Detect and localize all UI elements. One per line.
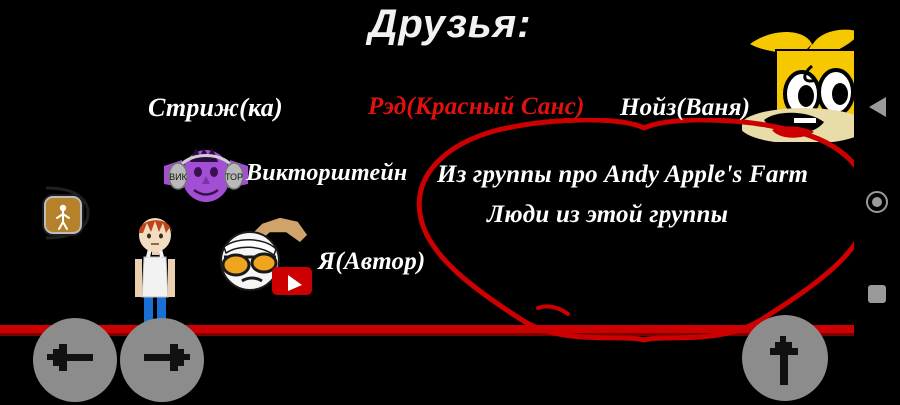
right-dpad-button[interactable] bbox=[120, 318, 204, 402]
back-icon[interactable] bbox=[866, 95, 888, 119]
headphone-right-text: ТОР bbox=[225, 172, 243, 182]
recents-icon[interactable] bbox=[868, 285, 886, 303]
home-icon[interactable] bbox=[865, 190, 889, 214]
strizhka-character bbox=[216, 207, 316, 302]
character-menu-button[interactable] bbox=[44, 196, 82, 234]
label-author: Я(Автор) bbox=[318, 248, 425, 276]
heart-note-line-1: Из группы про Andy Apple's Farm bbox=[437, 161, 808, 189]
person-icon bbox=[46, 198, 80, 232]
arrow-up-icon bbox=[742, 315, 828, 401]
author-character bbox=[124, 209, 186, 325]
heart-note-line-2: Люди из этой группы bbox=[487, 201, 728, 229]
headphone-left-text: ВИК bbox=[169, 172, 187, 182]
arrow-left-icon bbox=[33, 318, 117, 402]
arrow-right-icon bbox=[120, 318, 204, 402]
game-screen: Друзья: bbox=[0, 0, 900, 405]
jump-button[interactable] bbox=[742, 315, 828, 401]
left-dpad-button[interactable] bbox=[33, 318, 117, 402]
label-strizhka: Стриж(ка) bbox=[148, 93, 283, 123]
viktorshtein-character: ВИК ТОР bbox=[162, 146, 250, 204]
heart-annotation bbox=[398, 118, 888, 343]
label-viktorshtein: Викторштейн bbox=[246, 160, 407, 187]
label-red-sans: Рэд(Красный Санс) bbox=[368, 93, 585, 121]
android-navbar bbox=[854, 0, 900, 405]
label-noise: Нойз(Ваня) bbox=[620, 94, 750, 122]
